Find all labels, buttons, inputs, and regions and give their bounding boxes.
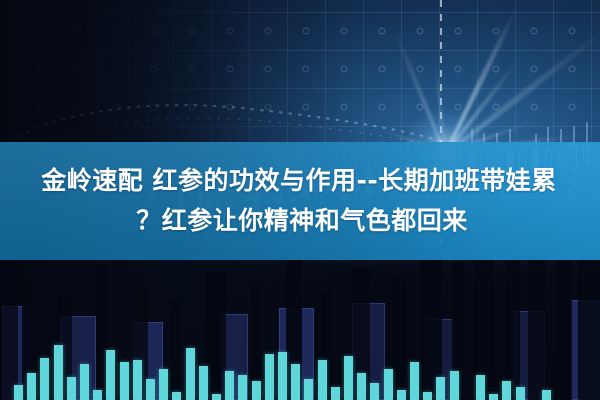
bar [225,371,234,400]
bar [450,371,459,400]
page-title: 金岭速配 红参的功效与作用--长期加班带娃累 ？红参让你精神和气色都回来 [0,142,600,260]
bar [14,385,23,400]
bar [106,350,115,400]
bar [238,375,247,400]
bar [542,390,551,400]
bar [265,354,274,400]
bar [199,366,208,400]
bar [331,387,340,400]
bar [133,360,142,400]
bar [516,387,525,400]
bar [476,375,485,400]
bar [278,352,287,400]
bar [357,373,366,400]
bar [502,381,511,400]
bar [40,358,49,400]
title-line-2: ？红参让你精神和气色都回来 [132,201,468,241]
bar [318,360,327,400]
bar [291,364,300,400]
bar [120,362,129,400]
bar [54,345,63,400]
bar [436,377,445,400]
bar [423,392,432,400]
bar [212,394,221,400]
bar [146,379,155,400]
bar [410,362,419,400]
bar [344,356,353,400]
bar [397,390,406,400]
bar [252,381,261,400]
bar [93,390,102,400]
bar [159,369,168,400]
article-banner: 金岭速配 红参的功效与作用--长期加班带娃累 ？红参让你精神和气色都回来 [0,0,600,400]
bar [27,373,36,400]
bar [370,383,379,400]
bar [186,348,195,400]
bar [67,377,76,400]
bar [80,364,89,400]
bar [172,392,181,400]
title-line-1: 金岭速配 红参的功效与作用--长期加班带娃累 [41,161,558,201]
bar [489,394,498,400]
bar [384,369,393,400]
bar [304,379,313,400]
